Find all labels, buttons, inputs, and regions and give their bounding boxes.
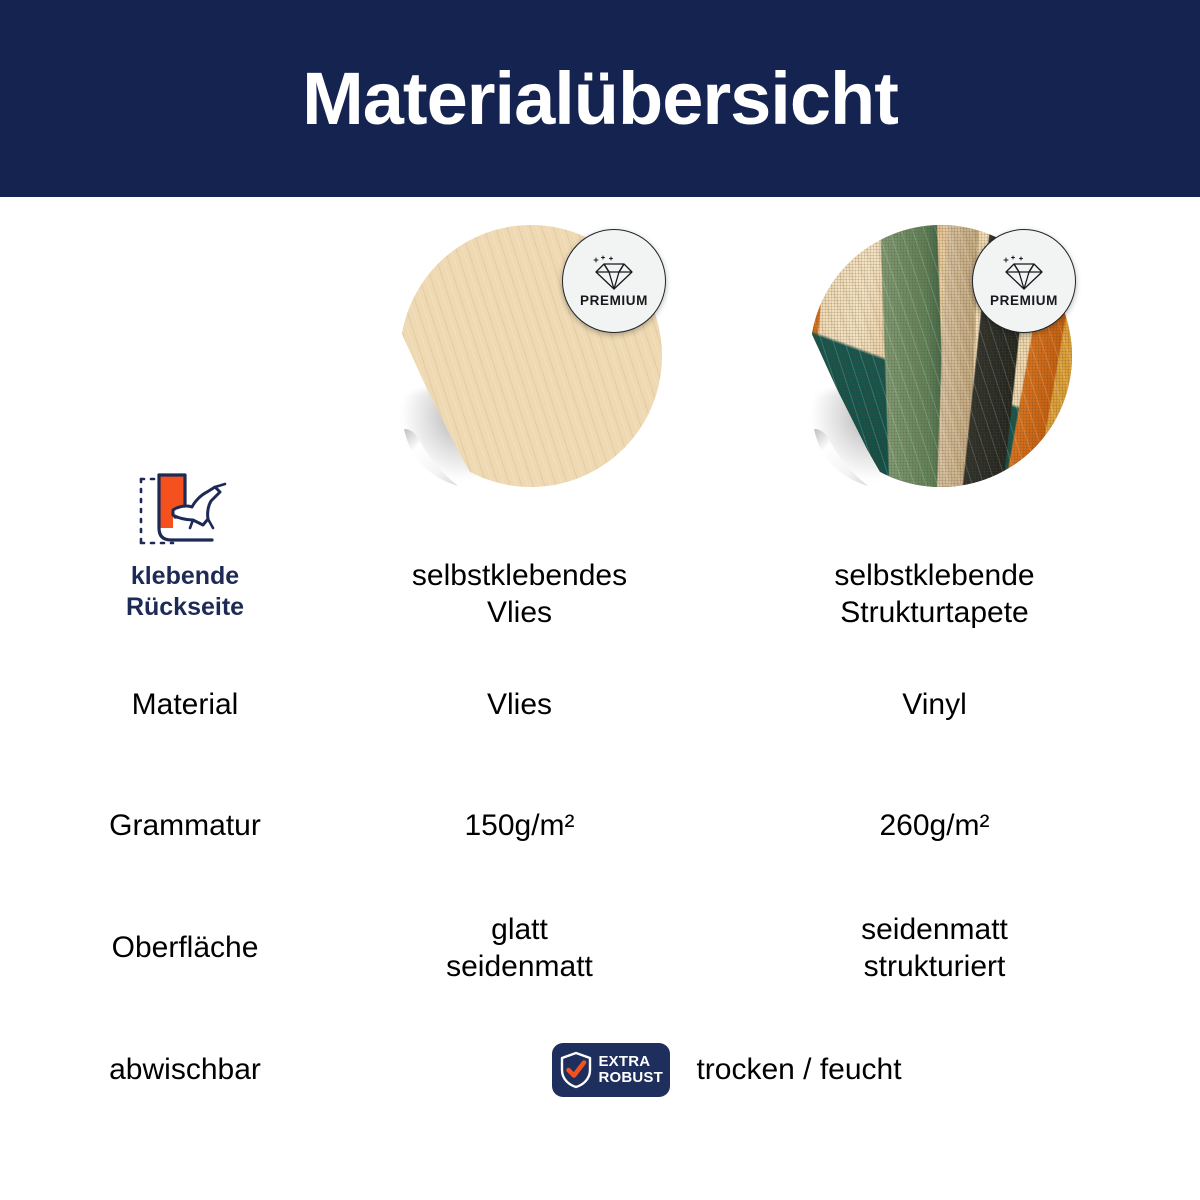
cell-material-b: Vinyl xyxy=(727,645,1142,765)
premium-badge-label: PREMIUM xyxy=(990,294,1058,308)
col-a-title-line2: Vlies xyxy=(320,595,719,632)
abwischbar-value-text: trocken / feucht xyxy=(696,1052,901,1089)
product-disc-wrap: PREMIUM xyxy=(400,225,662,487)
table-row-header: selbstklebendes Vlies selbstklebende Str… xyxy=(58,549,1142,645)
diamond-icon xyxy=(1001,254,1047,292)
row-label-material: Material xyxy=(58,645,312,765)
col-b-title-line1: selbstklebende xyxy=(735,558,1134,595)
table-row: Material Vlies Vinyl xyxy=(58,645,1142,765)
peel-corner-icon xyxy=(812,385,916,489)
table-row: abwischbar EXTRA ROBUST trocken / feucht xyxy=(58,1010,1142,1130)
col-a-title-line1: selbstklebendes xyxy=(320,558,719,595)
row-label-abwischbar: abwischbar xyxy=(58,1010,312,1130)
premium-badge-label: PREMIUM xyxy=(580,294,648,308)
cell-oberflaeche-a-line1: glatt xyxy=(320,912,719,949)
extra-robust-badge: EXTRA ROBUST xyxy=(552,1043,670,1097)
extra-robust-line2: ROBUST xyxy=(598,1070,663,1086)
row-label-grammatur: Grammatur xyxy=(58,765,312,887)
abwischbar-content: EXTRA ROBUST trocken / feucht xyxy=(320,1014,1134,1126)
premium-badge: PREMIUM xyxy=(562,229,666,333)
extra-robust-line1: EXTRA xyxy=(598,1054,663,1070)
row-label-oberflaeche: Oberfläche xyxy=(58,887,312,1010)
cell-oberflaeche-b: seidenmatt strukturiert xyxy=(727,887,1142,1010)
table-bottom-rule xyxy=(58,1130,1142,1131)
cell-grammatur-b: 260g/m² xyxy=(727,765,1142,887)
extra-robust-text: EXTRA ROBUST xyxy=(598,1054,663,1086)
header-banner: Materialübersicht xyxy=(0,0,1200,197)
cell-oberflaeche-b-line2: strukturiert xyxy=(735,949,1134,986)
shield-check-icon xyxy=(559,1051,593,1089)
row-header-label-cell xyxy=(58,549,312,645)
row-header-col-a: selbstklebendes Vlies xyxy=(312,549,727,645)
product-sample-strukturtapete[interactable]: PREMIUM xyxy=(810,225,1072,487)
table-row: Oberfläche glatt seidenmatt seidenmatt s… xyxy=(58,887,1142,1010)
bottom-border xyxy=(58,1130,1142,1131)
product-sample-vlies[interactable]: PREMIUM xyxy=(400,225,662,487)
product-disc-wrap: PREMIUM xyxy=(810,225,1072,487)
peeling-hand-icon xyxy=(129,470,241,552)
cell-material-a: Vlies xyxy=(312,645,727,765)
peel-corner-icon xyxy=(402,385,506,489)
cell-oberflaeche-b-line1: seidenmatt xyxy=(735,912,1134,949)
cell-oberflaeche-a-line2: seidenmatt xyxy=(320,949,719,986)
table-row: Grammatur 150g/m² 260g/m² xyxy=(58,765,1142,887)
col-b-title-line2: Strukturtapete xyxy=(735,595,1134,632)
cell-grammatur-a: 150g/m² xyxy=(312,765,727,887)
diamond-icon xyxy=(591,254,637,292)
premium-badge: PREMIUM xyxy=(972,229,1076,333)
material-spec-table: selbstklebendes Vlies selbstklebende Str… xyxy=(58,549,1142,1131)
row-header-col-b: selbstklebende Strukturtapete xyxy=(727,549,1142,645)
product-images-row: PREMIUM xyxy=(0,197,1200,497)
cell-abwischbar-value: EXTRA ROBUST trocken / feucht xyxy=(312,1010,1142,1130)
cell-oberflaeche-a: glatt seidenmatt xyxy=(312,887,727,1010)
page-title: Materialübersicht xyxy=(302,62,898,136)
